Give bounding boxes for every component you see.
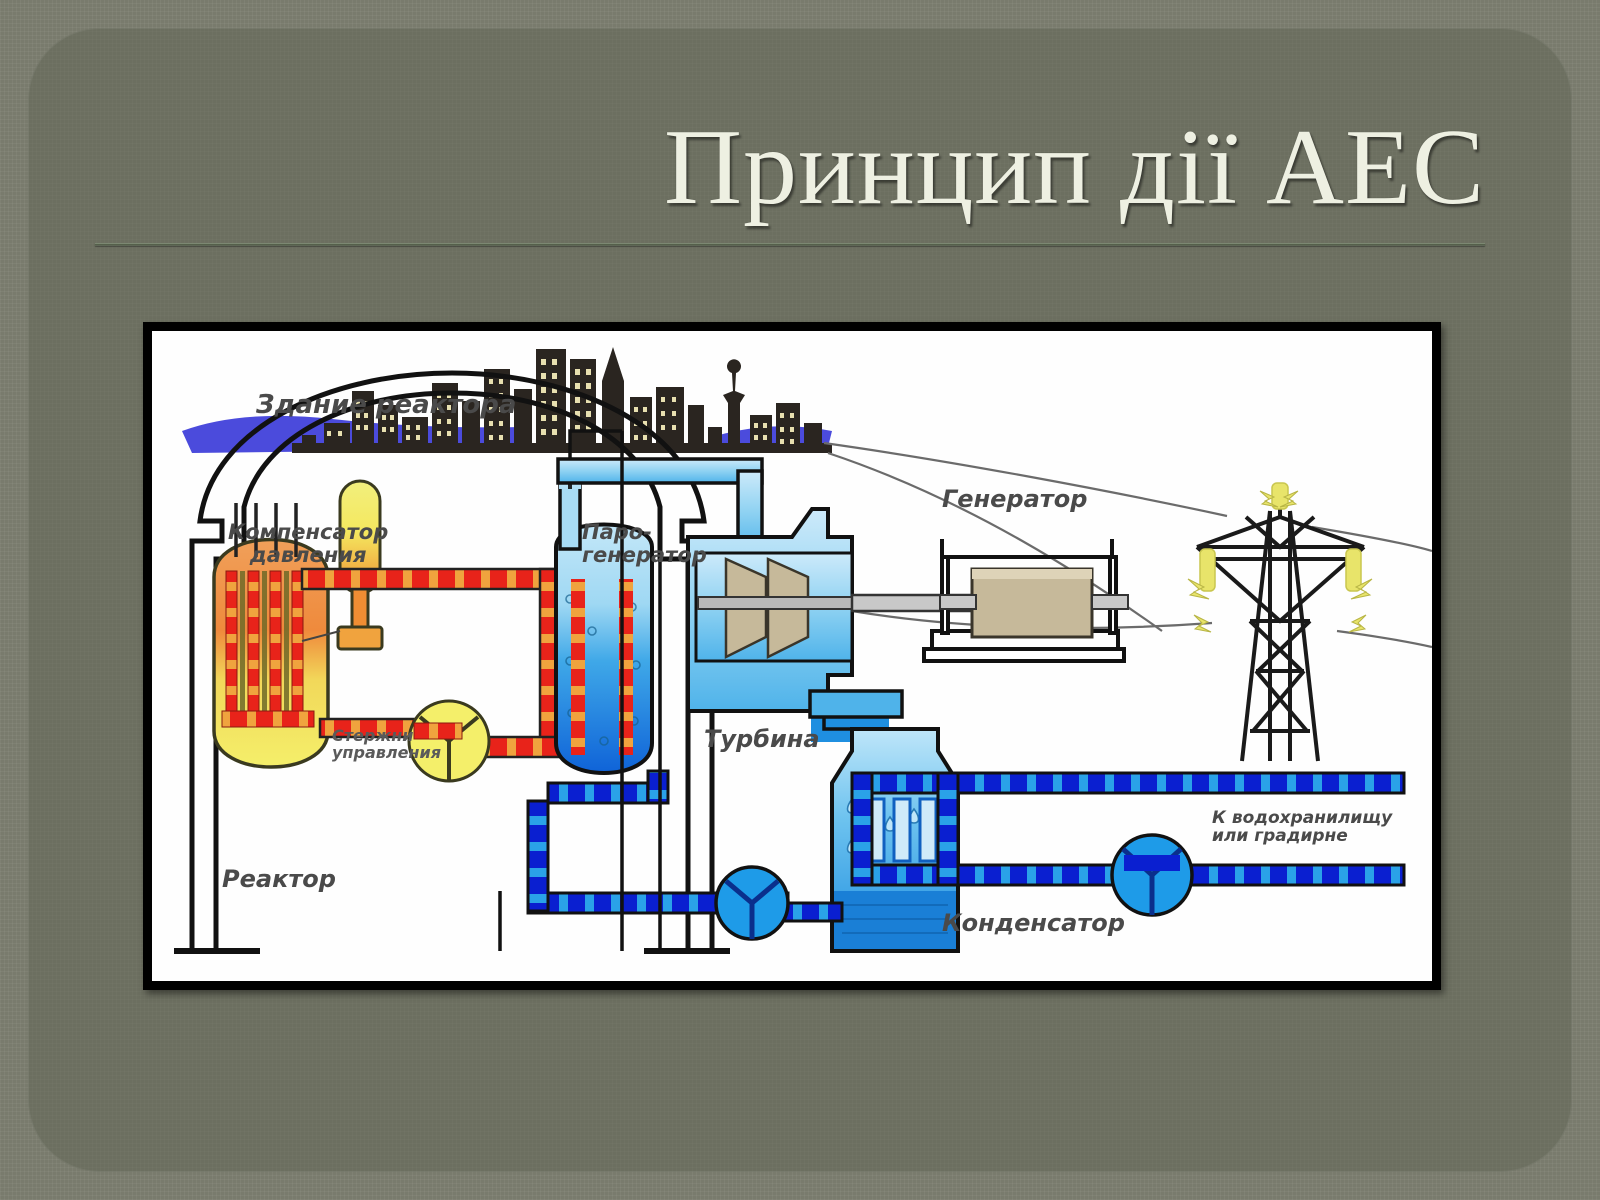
transmission-tower bbox=[1188, 483, 1372, 761]
label-control-rods: Стержни управления bbox=[332, 727, 441, 762]
feedwater-line bbox=[528, 771, 842, 921]
label-reactor: Реактор bbox=[222, 867, 336, 893]
page-title: Принцип дії АЕС bbox=[664, 110, 1485, 227]
circulating-water-pump[interactable] bbox=[1112, 835, 1192, 915]
label-turbine: Турбина bbox=[704, 727, 820, 753]
diagram-frame: Здание реактора Компенсатор давления Пар… bbox=[143, 322, 1441, 990]
label-generator: Генератор bbox=[942, 487, 1087, 513]
slide-root: Принцип дії АЕС bbox=[0, 0, 1600, 1200]
feedwater-pump[interactable] bbox=[716, 867, 788, 939]
label-steam-generator: Паро- генератор bbox=[582, 521, 707, 566]
label-condenser: Конденсатор bbox=[942, 911, 1125, 937]
label-pressurizer: Компенсатор давления bbox=[228, 521, 388, 566]
diagram-canvas: Здание реактора Компенсатор давления Пар… bbox=[152, 331, 1432, 981]
title-area: Принцип дії АЕС bbox=[95, 110, 1485, 260]
generator bbox=[924, 539, 1128, 661]
npp-schematic-svg bbox=[152, 331, 1432, 981]
label-reactor-building: Здание реактора bbox=[256, 391, 516, 419]
label-to-reservoir: К водохранилищу или градирне bbox=[1212, 809, 1392, 846]
title-underline-rule bbox=[95, 243, 1485, 246]
condenser-tubes bbox=[868, 799, 936, 861]
turbine bbox=[688, 509, 866, 711]
